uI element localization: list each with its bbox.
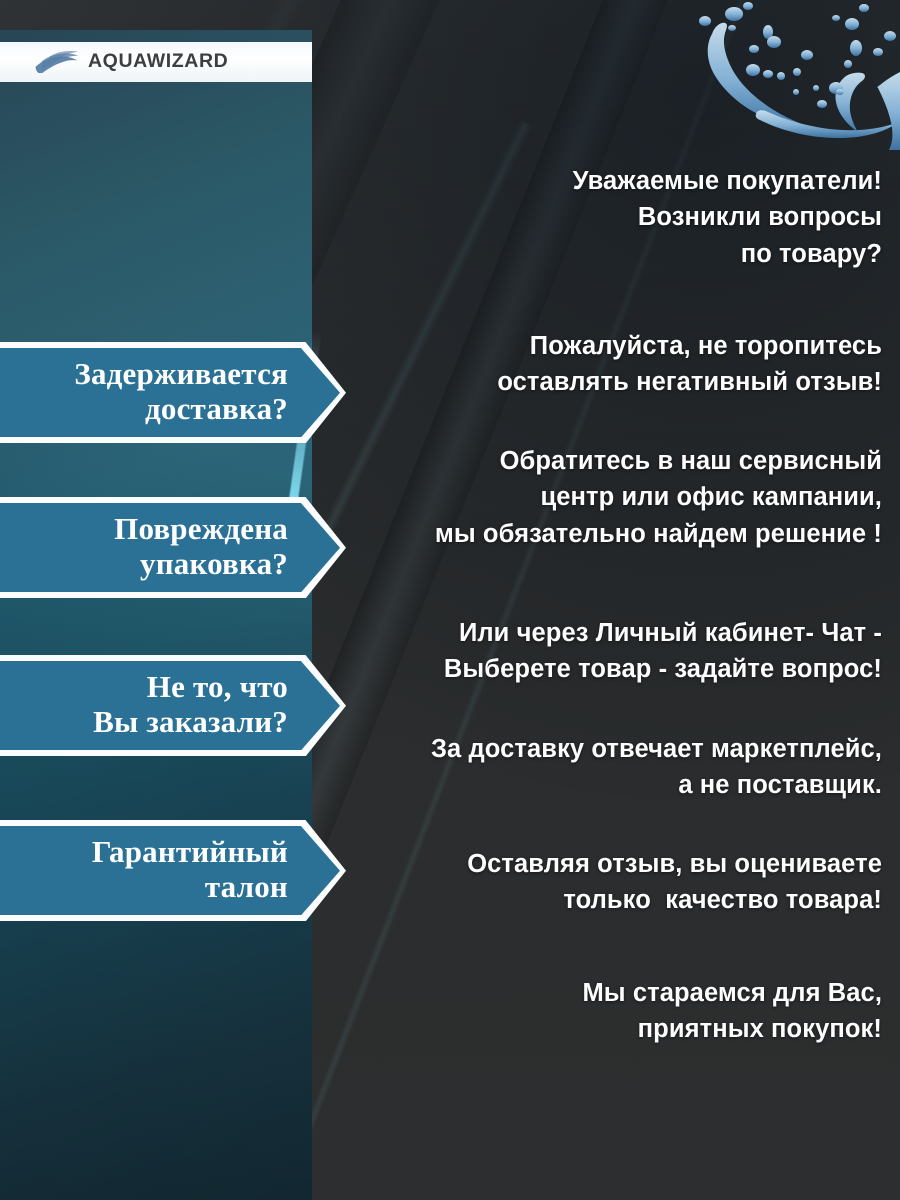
- callout-body: Гарантийный талон: [0, 826, 340, 915]
- message-delivery: За доставку отвечает маркетплейс, а не п…: [330, 731, 882, 804]
- brand-logo: AQUAWIZARD: [0, 42, 312, 82]
- callout-line-2: Вы заказали?: [14, 705, 288, 740]
- promo-poster: AQUAWIZARD Задерживается доставка? Повре…: [0, 0, 900, 1200]
- callout-body: Повреждена упаковка?: [0, 503, 340, 592]
- message-column: Уважаемые покупатели! Возникли вопросы п…: [330, 0, 900, 1200]
- message-greeting: Уважаемые покупатели! Возникли вопросы п…: [330, 163, 882, 272]
- message-service: Обратитесь в наш сервисный центр или офи…: [330, 443, 882, 552]
- message-closing: Мы стараемся для Вас, приятных покупок!: [330, 975, 882, 1048]
- brand-name: AQUAWIZARD: [88, 52, 228, 72]
- message-chat: Или через Личный кабинет- Чат - Выберете…: [330, 615, 882, 688]
- message-request: Пожалуйста, не торопитесь оставлять нега…: [330, 328, 882, 401]
- callout-body: Не то, что Вы заказали?: [0, 661, 340, 750]
- callout-line-1: Гарантийный: [14, 835, 288, 870]
- callout-body: Задерживается доставка?: [0, 348, 340, 437]
- callout-delivery-delay[interactable]: Задерживается доставка?: [0, 348, 352, 437]
- callout-line-1: Повреждена: [14, 512, 288, 547]
- callout-damaged-packaging[interactable]: Повреждена упаковка?: [0, 503, 352, 592]
- water-wave-icon: [34, 51, 78, 73]
- callout-wrong-item[interactable]: Не то, что Вы заказали?: [0, 661, 352, 750]
- callout-line-1: Задерживается: [14, 357, 288, 392]
- callout-line-2: доставка?: [14, 392, 288, 427]
- callout-line-2: упаковка?: [14, 547, 288, 582]
- callout-line-2: талон: [14, 870, 288, 905]
- callout-warranty-card[interactable]: Гарантийный талон: [0, 826, 352, 915]
- message-review: Оставляя отзыв, вы оцениваете только кач…: [330, 846, 882, 919]
- callout-line-1: Не то, что: [14, 670, 288, 705]
- left-accent-panel: [0, 30, 312, 1200]
